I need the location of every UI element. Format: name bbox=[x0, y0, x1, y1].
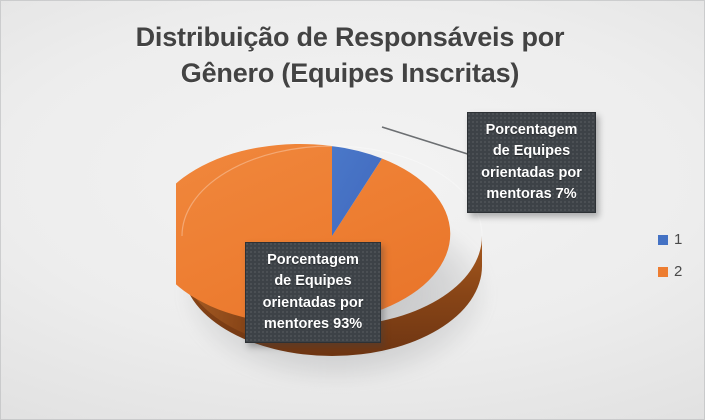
chart-title: Distribuição de Responsáveis por Gênero … bbox=[60, 20, 640, 91]
data-label-mentores-line-1: Porcentagem bbox=[267, 250, 359, 271]
chart-title-line-2: Gênero (Equipes Inscritas) bbox=[60, 56, 640, 92]
data-label-mentores-line-3: orientadas por bbox=[263, 293, 364, 314]
data-label-mentores[interactable]: Porcentagem de Equipes orientadas por me… bbox=[245, 242, 381, 343]
data-label-mentoras-line-2: de Equipes bbox=[493, 141, 570, 162]
chart-legend: 1 2 bbox=[658, 228, 700, 288]
chart-title-line-1: Distribuição de Responsáveis por bbox=[60, 20, 640, 56]
data-label-mentoras[interactable]: Porcentagem de Equipes orientadas por me… bbox=[467, 112, 596, 213]
data-label-mentores-line-4: mentores 93% bbox=[264, 314, 362, 335]
legend-label-1: 1 bbox=[674, 232, 682, 247]
data-label-mentores-line-2: de Equipes bbox=[274, 271, 351, 292]
legend-item-2[interactable]: 2 bbox=[658, 264, 682, 279]
legend-label-2: 2 bbox=[674, 264, 682, 279]
data-label-mentoras-line-3: orientadas por bbox=[481, 163, 582, 184]
chart-container: Distribuição de Responsáveis por Gênero … bbox=[0, 0, 705, 420]
legend-item-1[interactable]: 1 bbox=[658, 232, 682, 247]
data-label-mentoras-line-4: mentoras 7% bbox=[486, 184, 576, 205]
data-label-mentoras-line-1: Porcentagem bbox=[486, 120, 578, 141]
legend-swatch-2-icon bbox=[658, 267, 668, 277]
legend-swatch-1-icon bbox=[658, 235, 668, 245]
